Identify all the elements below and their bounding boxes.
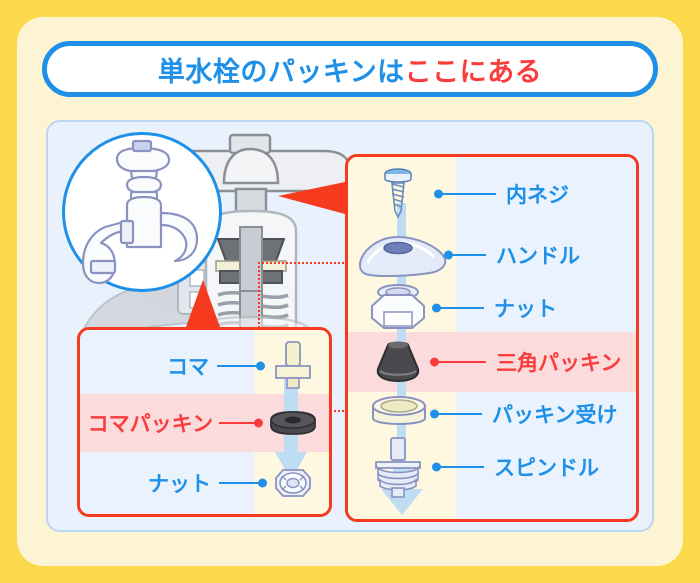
right-panel-leader [436, 307, 484, 309]
part-label-packing-holder: パッキン受け [492, 399, 617, 429]
leader-dot [432, 304, 441, 313]
part-label-small-nut: ナット [148, 468, 211, 498]
packing-holder-icon [368, 394, 430, 434]
left-panel-row: ナット [80, 456, 329, 510]
right-panel-row: スピンドル [348, 437, 636, 497]
right-panel-leader [438, 193, 496, 195]
title-text-red: ここにある [405, 57, 543, 87]
title-text-blue: 単水栓のパッキンは [158, 57, 405, 87]
part-label-nut: ナット [494, 293, 557, 323]
diagram-stage: 内ネジ ハンドル [46, 120, 654, 532]
left-panel-leader [219, 482, 263, 484]
part-label-koma-packing: コマパッキン [88, 408, 213, 438]
leader-dot [434, 190, 443, 199]
koma-packing-icon [269, 410, 317, 436]
koma-icon [271, 340, 315, 392]
part-label-uchineji: 内ネジ [506, 179, 569, 209]
right-panel-leader [436, 466, 484, 468]
left-exploded-panel: コマ コマパッキン [77, 327, 332, 517]
nut-icon [366, 282, 430, 334]
right-panel-row: ハンドル [348, 229, 636, 281]
triangle-packing-icon [368, 339, 428, 385]
page-title: 単水栓のパッキンはここにある [158, 50, 542, 89]
poster-frame: 単水栓のパッキンはここにある [0, 0, 700, 583]
right-exploded-panel: 内ネジ ハンドル [345, 154, 639, 522]
right-panel-row: パッキン受け [348, 391, 636, 437]
small-nut-icon [273, 466, 313, 500]
right-panel-leader-red [434, 361, 486, 363]
leader-dot [444, 251, 453, 260]
leader-dot-red [254, 419, 263, 428]
spindle-icon [366, 436, 430, 498]
left-panel-row-highlighted: コマパッキン [80, 396, 329, 450]
right-panel-leader [434, 413, 482, 415]
part-label-sankaku-packing: 三角パッキン [496, 347, 621, 377]
part-label-spindle: スピンドル [494, 452, 599, 482]
screw-icon [378, 167, 418, 221]
leader-dot [256, 362, 265, 371]
right-panel-leader [448, 254, 486, 256]
faucet-icon [65, 135, 219, 289]
faucet-inset [62, 132, 222, 292]
left-panel-leader-red [219, 422, 259, 424]
left-panel-leader [217, 365, 261, 367]
leader-dot [430, 410, 439, 419]
part-label-koma: コマ [167, 351, 209, 381]
handle-icon [354, 231, 448, 279]
right-panel-row: 内ネジ [348, 167, 636, 221]
leader-dot [258, 479, 267, 488]
title-banner: 単水栓のパッキンはここにある [42, 41, 658, 97]
right-panel-row-highlighted: 三角パッキン [348, 335, 636, 389]
leader-dot-red [430, 358, 439, 367]
left-panel-row: コマ [80, 338, 329, 394]
right-panel-row: ナット [348, 281, 636, 335]
part-label-handle: ハンドル [496, 240, 580, 270]
leader-dot [432, 463, 441, 472]
